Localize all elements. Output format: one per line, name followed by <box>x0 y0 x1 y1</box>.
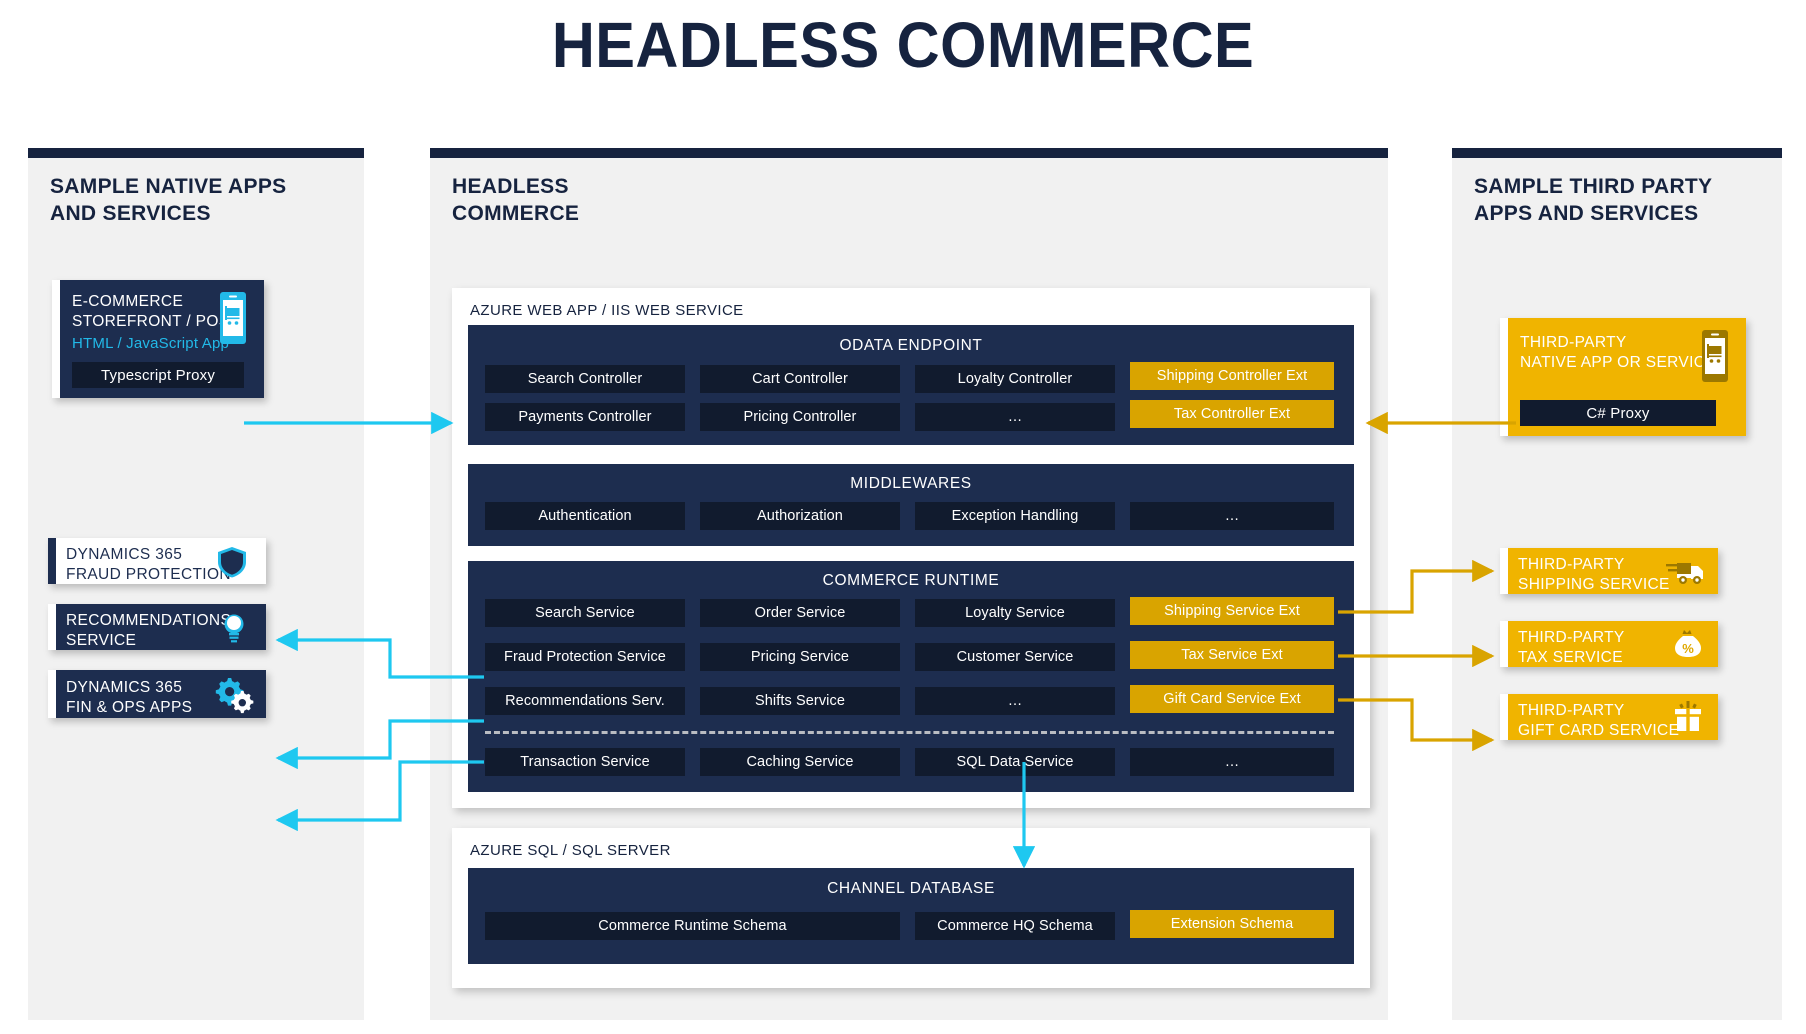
cell-tax-service-ext[interactable]: Tax Service Ext <box>1130 641 1334 669</box>
card-third-party-gift-card-service[interactable]: THIRD-PARTY GIFT CARD SERVICE <box>1500 694 1718 740</box>
card-subtitle: HTML / JavaScript App <box>72 335 229 352</box>
gears-icon <box>214 676 254 719</box>
card-title-line2: GIFT CARD SERVICE <box>1518 721 1679 741</box>
cell-sql-data-service[interactable]: SQL Data Service <box>915 748 1115 776</box>
cell-gift-card-service-ext[interactable]: Gift Card Service Ext <box>1130 685 1334 713</box>
cell-extension-schema[interactable]: Extension Schema <box>1130 910 1334 938</box>
card-title-line1: E-COMMERCE <box>72 292 229 312</box>
group-title: ODATA ENDPOINT <box>468 337 1354 355</box>
group-middlewares: MIDDLEWARES Authentication Authorization… <box>468 464 1354 546</box>
group-title: CHANNEL DATABASE <box>468 880 1354 898</box>
card-title-line2: SHIPPING SERVICE <box>1518 575 1670 595</box>
card-accent-edge <box>1500 621 1508 667</box>
card-title: DYNAMICS 365 FIN & OPS APPS <box>66 678 192 719</box>
card-title-line1: DYNAMICS 365 <box>66 545 231 565</box>
cell-commerce-hq-schema[interactable]: Commerce HQ Schema <box>915 912 1115 940</box>
card-title: DYNAMICS 365 FRAUD PROTECTION <box>66 545 231 586</box>
card-ecommerce-storefront[interactable]: E-COMMERCE STOREFRONT / POS HTML / JavaS… <box>52 280 264 398</box>
gift-icon <box>1672 701 1704 738</box>
mobile-cart-icon <box>216 292 250 349</box>
card-title: THIRD-PARTY SHIPPING SERVICE <box>1518 555 1670 596</box>
cell-shipping-service-ext[interactable]: Shipping Service Ext <box>1130 597 1334 625</box>
card-title-line2: SERVICE <box>66 631 231 651</box>
center-column-topbar <box>430 148 1388 158</box>
left-column-heading-line2: AND SERVICES <box>50 201 286 228</box>
truck-icon <box>1666 559 1706 590</box>
card-title-line1: THIRD-PARTY <box>1518 701 1679 721</box>
cell-loyalty-service[interactable]: Loyalty Service <box>915 599 1115 627</box>
cell-exception-handling[interactable]: Exception Handling <box>915 502 1115 530</box>
card-title: THIRD-PARTY GIFT CARD SERVICE <box>1518 701 1679 742</box>
group-commerce-runtime: COMMERCE RUNTIME Search Service Order Se… <box>468 561 1354 792</box>
card-title-line1: THIRD-PARTY <box>1520 333 1716 353</box>
card-title-line1: THIRD-PARTY <box>1518 628 1625 648</box>
panel-azure-web-app-label: AZURE WEB APP / IIS WEB SERVICE <box>470 302 744 319</box>
cell-data-more[interactable]: … <box>1130 748 1334 776</box>
center-column-heading: HEADLESS COMMERCE <box>452 174 579 228</box>
card-third-party-shipping-service[interactable]: THIRD-PARTY SHIPPING SERVICE <box>1500 548 1718 594</box>
cell-cart-controller[interactable]: Cart Controller <box>700 365 900 393</box>
card-recommendations-service[interactable]: RECOMMENDATIONS SERVICE <box>48 604 266 650</box>
cell-tax-controller-ext[interactable]: Tax Controller Ext <box>1130 400 1334 428</box>
money-bag-percent-icon: % <box>1672 628 1704 665</box>
cell-authentication[interactable]: Authentication <box>485 502 685 530</box>
diagram-canvas: HEADLESS COMMERCE SAMPLE NATIVE APPS AND… <box>0 0 1806 1034</box>
card-title: THIRD-PARTY NATIVE APP OR SERVICE <box>1520 333 1716 374</box>
card-accent-edge <box>48 670 56 718</box>
card-title-line2: FRAUD PROTECTION <box>66 565 231 585</box>
card-accent-edge <box>1500 548 1508 594</box>
card-title-line2: STOREFRONT / POS <box>72 312 229 332</box>
runtime-divider <box>485 731 1334 734</box>
right-column-heading: SAMPLE THIRD PARTY APPS AND SERVICES <box>1474 174 1712 228</box>
lightbulb-icon <box>220 612 248 649</box>
shield-icon <box>216 546 248 583</box>
card-accent-edge <box>48 538 56 584</box>
cell-search-service[interactable]: Search Service <box>485 599 685 627</box>
card-third-party-tax-service[interactable]: THIRD-PARTY TAX SERVICE % <box>1500 621 1718 667</box>
cell-runtime-more[interactable]: … <box>915 687 1115 715</box>
card-title: RECOMMENDATIONS SERVICE <box>66 611 231 652</box>
cell-pricing-service[interactable]: Pricing Service <box>700 643 900 671</box>
group-odata-endpoint: ODATA ENDPOINT Search Controller Cart Co… <box>468 325 1354 445</box>
cell-fraud-protection-service[interactable]: Fraud Protection Service <box>485 643 685 671</box>
card-title-line2: TAX SERVICE <box>1518 648 1625 668</box>
card-title-line1: DYNAMICS 365 <box>66 678 192 698</box>
card-title-line2: FIN & OPS APPS <box>66 698 192 718</box>
card-title: E-COMMERCE STOREFRONT / POS <box>72 292 229 333</box>
cell-shipping-controller-ext[interactable]: Shipping Controller Ext <box>1130 362 1334 390</box>
card-title-line2: NATIVE APP OR SERVICE <box>1520 353 1716 373</box>
group-channel-database: CHANNEL DATABASE Commerce Runtime Schema… <box>468 868 1354 964</box>
center-column-heading-line2: COMMERCE <box>452 201 579 228</box>
card-title-line1: RECOMMENDATIONS <box>66 611 231 631</box>
right-column-heading-line2: APPS AND SERVICES <box>1474 201 1712 228</box>
right-column-topbar <box>1452 148 1782 158</box>
card-dynamics-fraud-protection[interactable]: DYNAMICS 365 FRAUD PROTECTION <box>48 538 266 584</box>
mobile-cart-icon <box>1698 330 1732 387</box>
cell-search-controller[interactable]: Search Controller <box>485 365 685 393</box>
group-title: COMMERCE RUNTIME <box>468 572 1354 590</box>
cell-recommendations-service[interactable]: Recommendations Serv. <box>485 687 685 715</box>
group-title: MIDDLEWARES <box>468 475 1354 493</box>
cell-customer-service[interactable]: Customer Service <box>915 643 1115 671</box>
right-column-heading-line1: SAMPLE THIRD PARTY <box>1474 174 1712 201</box>
svg-text:%: % <box>1682 641 1694 656</box>
center-column-heading-line1: HEADLESS <box>452 174 579 201</box>
left-column-topbar <box>28 148 364 158</box>
cell-authorization[interactable]: Authorization <box>700 502 900 530</box>
page-title: HEADLESS COMMERCE <box>63 8 1743 82</box>
cell-loyalty-controller[interactable]: Loyalty Controller <box>915 365 1115 393</box>
cell-caching-service[interactable]: Caching Service <box>700 748 900 776</box>
cell-shifts-service[interactable]: Shifts Service <box>700 687 900 715</box>
left-column-heading: SAMPLE NATIVE APPS AND SERVICES <box>50 174 286 228</box>
card-accent-edge <box>48 604 56 650</box>
cell-commerce-runtime-schema[interactable]: Commerce Runtime Schema <box>485 912 900 940</box>
csharp-proxy-box[interactable]: C# Proxy <box>1520 400 1716 426</box>
cell-pricing-controller[interactable]: Pricing Controller <box>700 403 900 431</box>
card-third-party-native-app[interactable]: THIRD-PARTY NATIVE APP OR SERVICE C# Pro… <box>1500 318 1746 436</box>
cell-payments-controller[interactable]: Payments Controller <box>485 403 685 431</box>
card-title-line1: THIRD-PARTY <box>1518 555 1670 575</box>
cell-order-service[interactable]: Order Service <box>700 599 900 627</box>
left-column-heading-line1: SAMPLE NATIVE APPS <box>50 174 286 201</box>
cell-transaction-service[interactable]: Transaction Service <box>485 748 685 776</box>
cell-middlewares-more[interactable]: … <box>1130 502 1334 530</box>
card-title: THIRD-PARTY TAX SERVICE <box>1518 628 1625 669</box>
card-accent-edge <box>1500 694 1508 740</box>
card-accent-edge <box>1500 318 1508 436</box>
cell-odata-more[interactable]: … <box>915 403 1115 431</box>
typescript-proxy-box[interactable]: Typescript Proxy <box>72 362 244 388</box>
panel-azure-sql-label: AZURE SQL / SQL SERVER <box>470 842 671 859</box>
card-dynamics-fin-ops-apps[interactable]: DYNAMICS 365 FIN & OPS APPS <box>48 670 266 718</box>
card-accent-edge <box>52 280 60 398</box>
